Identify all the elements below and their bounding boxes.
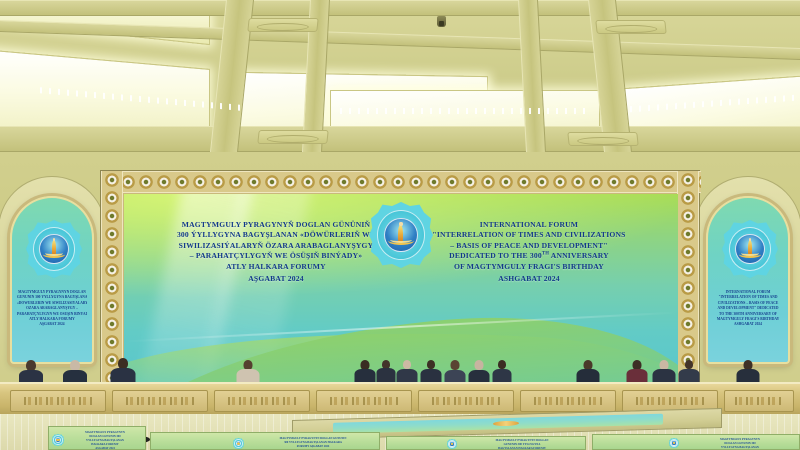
ceiling-beam [0,20,800,60]
forum-emblem-icon [52,434,64,446]
table-placard-text: MAGTYMGULY PYRAGYNYŇ DOGLAN GÜNÜNIŇ 300 … [67,431,143,450]
forum-emblem-icon [26,220,82,278]
table-placard-text: MAGTYMGULY PYRAGYNYŇ DOGLAN GÜNÜNIŇ 300 … [685,438,795,450]
main-led-screen: MAGTYMGULY PYRAGYNYŇ DOGLAN GÜNÜNIŇ 300 … [100,170,700,385]
delegate [420,360,442,384]
dais-panel [724,390,794,412]
dais-panel [10,390,106,412]
delegate [626,360,648,384]
dais-panel [214,390,310,412]
delegate [376,360,396,382]
banner-left-turkmen: MAGTYMGULY PYRAGYNYŇ DOGLAN GÜNÜNIŇ 300 … [10,196,94,364]
banner-left-text: MAGTYMGULY PYRAGYNYŇ DOGLAN GÜNÜNIŇ 300 … [17,290,87,328]
ceiling-beam [0,0,800,16]
delegate [396,360,418,384]
screen-title-turkmen: MAGTYMGULY PYRAGYNYŇ DOGLAN GÜNÜNIŇ 300 … [156,220,396,285]
dais-panel [520,390,616,412]
screen-ornament-right [677,171,699,386]
forum-emblem-icon [669,438,679,448]
forum-emblem-icon [722,220,778,278]
coffered-ceiling [0,0,800,152]
ceiling-beam [0,126,800,152]
ceiling-medallion [595,20,666,34]
foreground-table-right-inner: MAGTYMGULY PYRAGYNYŇ DOGLAN GÜNÜNIŇ 300 … [386,436,586,450]
conference-hall-photo: MAGTYMGULY PYRAGYNYŇ DOGLAN GÜNÜNIŇ 300 … [0,0,800,450]
delegate [354,360,376,384]
ceiling-medallion [247,18,318,32]
ceiling-medallion [257,130,328,144]
table-placard-text: MAGTYMGULY PYRAGYNYŇ DOGLAN GÜNÜNIŇ 300 … [463,439,581,450]
delegate [678,360,700,384]
ceiling-medallion [567,132,638,146]
forum-emblem-icon [447,439,457,449]
dais-panel [316,390,412,412]
screen-ornament-left [101,171,123,386]
ceiling-led-strip [340,108,590,114]
banner-right-english: INTERNATIONAL FORUM "INTERRELATION OF TI… [706,196,790,364]
table-placard-text: MAGTYMGULY PYRAGYNYŇ DOGLAN GÜNÜNIŇ 300 … [251,437,375,449]
forum-emblem-icon [369,202,433,268]
screen-title-english: INTERNATIONAL FORUM "INTERRELATION OF TI… [404,220,654,285]
screen-ornament-top [101,171,701,193]
foreground-table-left: MAGTYMGULY PYRAGYNYŇ DOGLAN GÜNÜNIŇ 300 … [48,426,146,450]
forum-emblem-icon [233,438,244,449]
delegate [492,360,512,384]
foreground-table-right: MAGTYMGULY PYRAGYNYŇ DOGLAN GÜNÜNIŇ 300 … [592,434,800,450]
dais-panel [418,390,514,412]
banner-right-text: INTERNATIONAL FORUM "INTERRELATION OF TI… [713,290,783,328]
anniversary-line: DEDICATED TO THE 300TH ANNIVERSARY [404,251,654,261]
dais-panel [112,390,208,412]
foreground-table-center: MAGTYMGULY PYRAGYNYŇ DOGLAN GÜNÜNIŇ 300 … [150,432,380,450]
ceiling-sensor-icon [437,16,446,27]
screen-display-area: MAGTYMGULY PYRAGYNYŇ DOGLAN GÜNÜNIŇ 300 … [124,194,678,386]
